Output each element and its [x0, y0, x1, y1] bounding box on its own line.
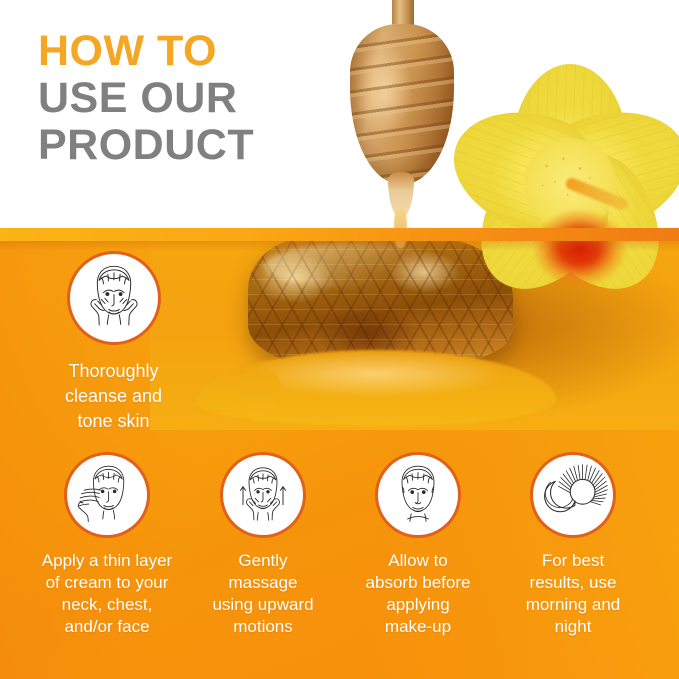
caption-line: tone skin [21, 409, 206, 434]
caption-line: cleanse and [21, 384, 206, 409]
step-item-1: Thoroughly cleanse and tone skin [21, 251, 206, 434]
step-caption-4: Allow to absorb before applying make-up [334, 550, 502, 638]
honey-dipper-image [336, 0, 462, 240]
title-line-3: PRODUCT [38, 122, 338, 169]
step-item-2: Apply a thin layer of cream to your neck… [23, 452, 191, 638]
caption-line: results, use [489, 572, 657, 594]
step-caption-5: For best results, use morning and night [489, 550, 657, 638]
caption-line: motions [179, 616, 347, 638]
step-item-3: Gently massage using upward motions [179, 452, 347, 638]
caption-line: make-up [334, 616, 502, 638]
face-cleansing-two-hands-icon [67, 251, 161, 345]
caption-line: massage [179, 572, 347, 594]
caption-line: neck, chest, [23, 594, 191, 616]
step-caption-1: Thoroughly cleanse and tone skin [21, 359, 206, 434]
orange-divider-shadow [0, 241, 679, 251]
caption-line: absorb before [334, 572, 502, 594]
how-to-use-product-infographic: HOW TO USE OUR PRODUCT [0, 0, 679, 679]
step-item-5: For best results, use morning and night [489, 452, 657, 638]
caption-line: applying [334, 594, 502, 616]
dipper-head [350, 24, 454, 184]
caption-line: For best [489, 550, 657, 572]
caption-line: of cream to your [23, 572, 191, 594]
dipper-rings [350, 24, 454, 184]
sun-and-moon-icon [530, 452, 616, 538]
step-caption-2: Apply a thin layer of cream to your neck… [23, 550, 191, 638]
face-massage-upward-arrows-icon [220, 452, 306, 538]
caption-line: Apply a thin layer [23, 550, 191, 572]
hibiscus-flower-image [455, 24, 679, 344]
face-apply-cream-one-hand-icon [64, 452, 150, 538]
caption-line: Gently [179, 550, 347, 572]
step-item-4: Allow to absorb before applying make-up [334, 452, 502, 638]
face-plain-icon [375, 452, 461, 538]
title-line-2: USE OUR [38, 75, 338, 122]
caption-line: night [489, 616, 657, 638]
page-title: HOW TO USE OUR PRODUCT [38, 28, 338, 169]
step-caption-3: Gently massage using upward motions [179, 550, 347, 638]
caption-line: using upward [179, 594, 347, 616]
caption-line: Allow to [334, 550, 502, 572]
title-line-1: HOW TO [38, 28, 338, 75]
caption-line: Thoroughly [21, 359, 206, 384]
orange-divider-band [0, 228, 679, 241]
caption-line: morning and [489, 594, 657, 616]
caption-line: and/or face [23, 616, 191, 638]
